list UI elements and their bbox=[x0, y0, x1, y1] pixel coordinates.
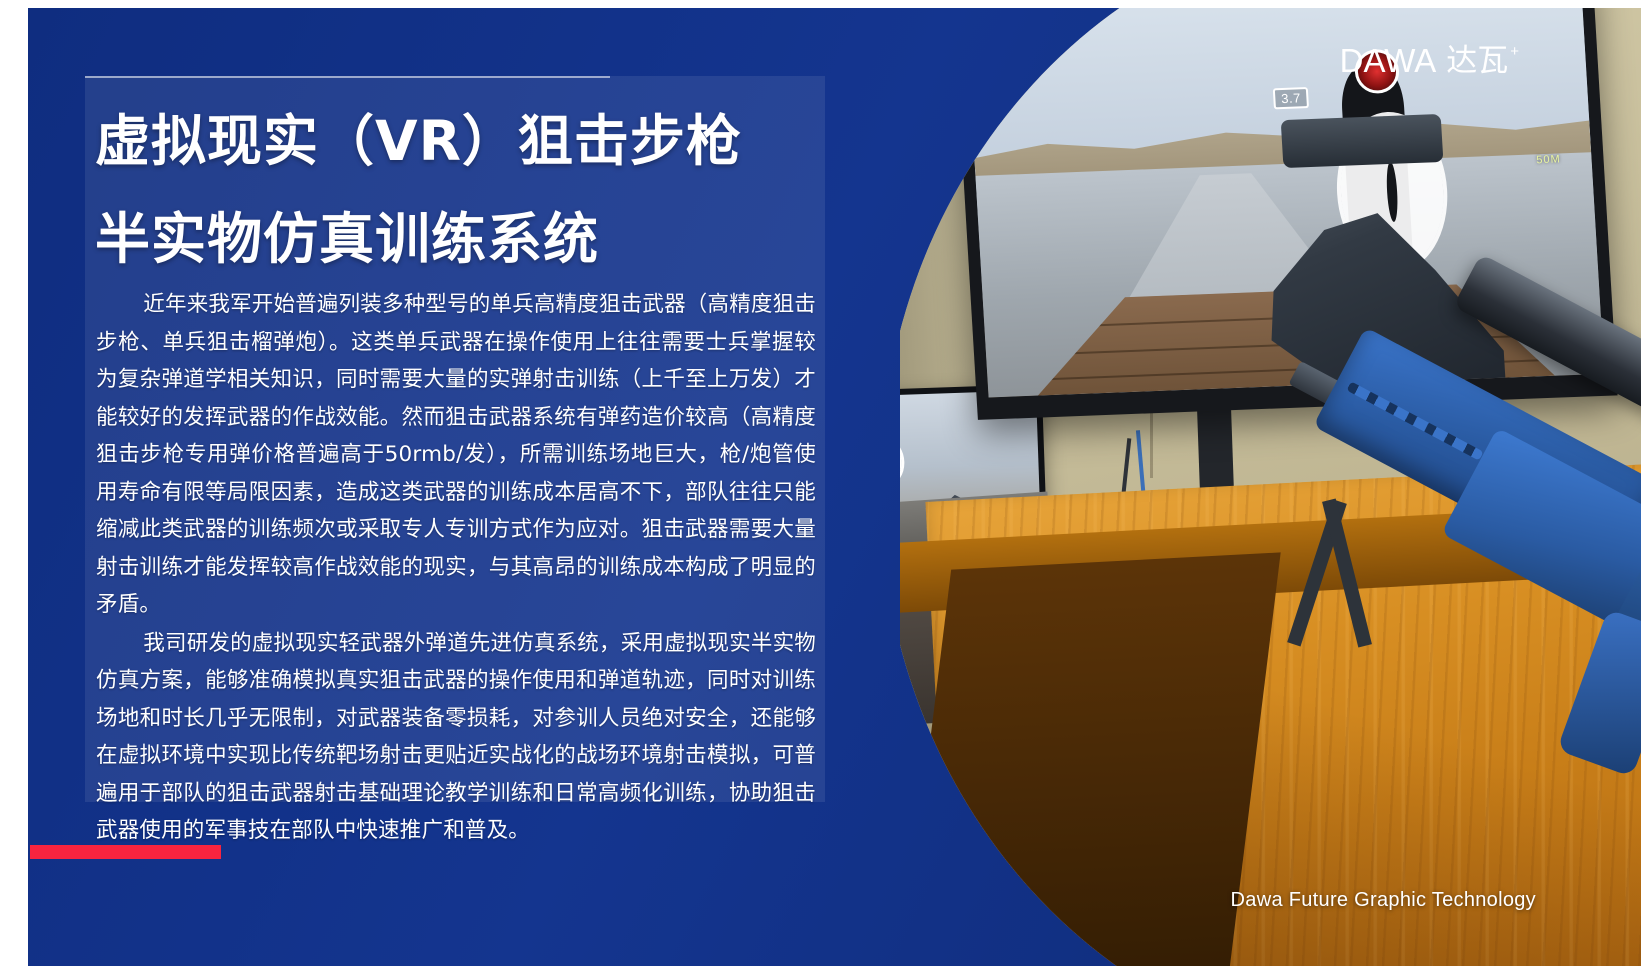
logo-latin-text: DAWA bbox=[1340, 44, 1437, 78]
title-line-1: 虚拟现实（VR）狙击步枪 bbox=[95, 92, 855, 190]
dawa-logo: DAWA 达瓦 + bbox=[1340, 44, 1519, 78]
photo-mask: 3.7 50M bbox=[900, 8, 1641, 966]
hud-distance: 50M bbox=[1536, 153, 1561, 166]
logo-superscript-icon: + bbox=[1510, 44, 1519, 60]
title-divider-rule bbox=[85, 76, 610, 78]
logo-chinese-text: 达瓦 bbox=[1446, 44, 1508, 78]
target-rings-icon bbox=[900, 433, 906, 493]
frame-edge-top bbox=[0, 0, 1641, 8]
hud-value: 3.7 bbox=[1273, 87, 1310, 109]
paragraph-1: 近年来我军开始普遍列装多种型号的单兵高精度狙击武器（高精度狙击步枪、单兵狙击榴弹… bbox=[96, 286, 816, 624]
slide-root: 3.7 50M bbox=[0, 0, 1641, 974]
title-line-2: 半实物仿真训练系统 bbox=[95, 190, 855, 288]
company-caption: Dawa Future Graphic Technology bbox=[1231, 889, 1536, 912]
accent-bar bbox=[30, 845, 221, 859]
photo-circle-crop: 3.7 50M bbox=[900, 8, 1641, 966]
rifle-grip bbox=[1557, 609, 1641, 777]
frame-edge-bottom bbox=[0, 966, 1641, 974]
foreground-sniper-rifle bbox=[1150, 248, 1641, 808]
frame-edge-left bbox=[0, 0, 28, 974]
photo-region: 3.7 50M bbox=[900, 8, 1641, 966]
rifle-bipod-leg bbox=[1322, 499, 1372, 648]
paragraph-2: 我司研发的虚拟现实轻武器外弹道先进仿真系统，采用虚拟现实半实物仿真方案，能够准确… bbox=[96, 625, 816, 850]
page-title: 虚拟现实（VR）狙击步枪 半实物仿真训练系统 bbox=[95, 92, 855, 288]
body-text: 近年来我军开始普遍列装多种型号的单兵高精度狙击武器（高精度狙击步枪、单兵狙击榴弹… bbox=[96, 286, 816, 850]
sim-rifle-scope bbox=[1281, 114, 1444, 168]
